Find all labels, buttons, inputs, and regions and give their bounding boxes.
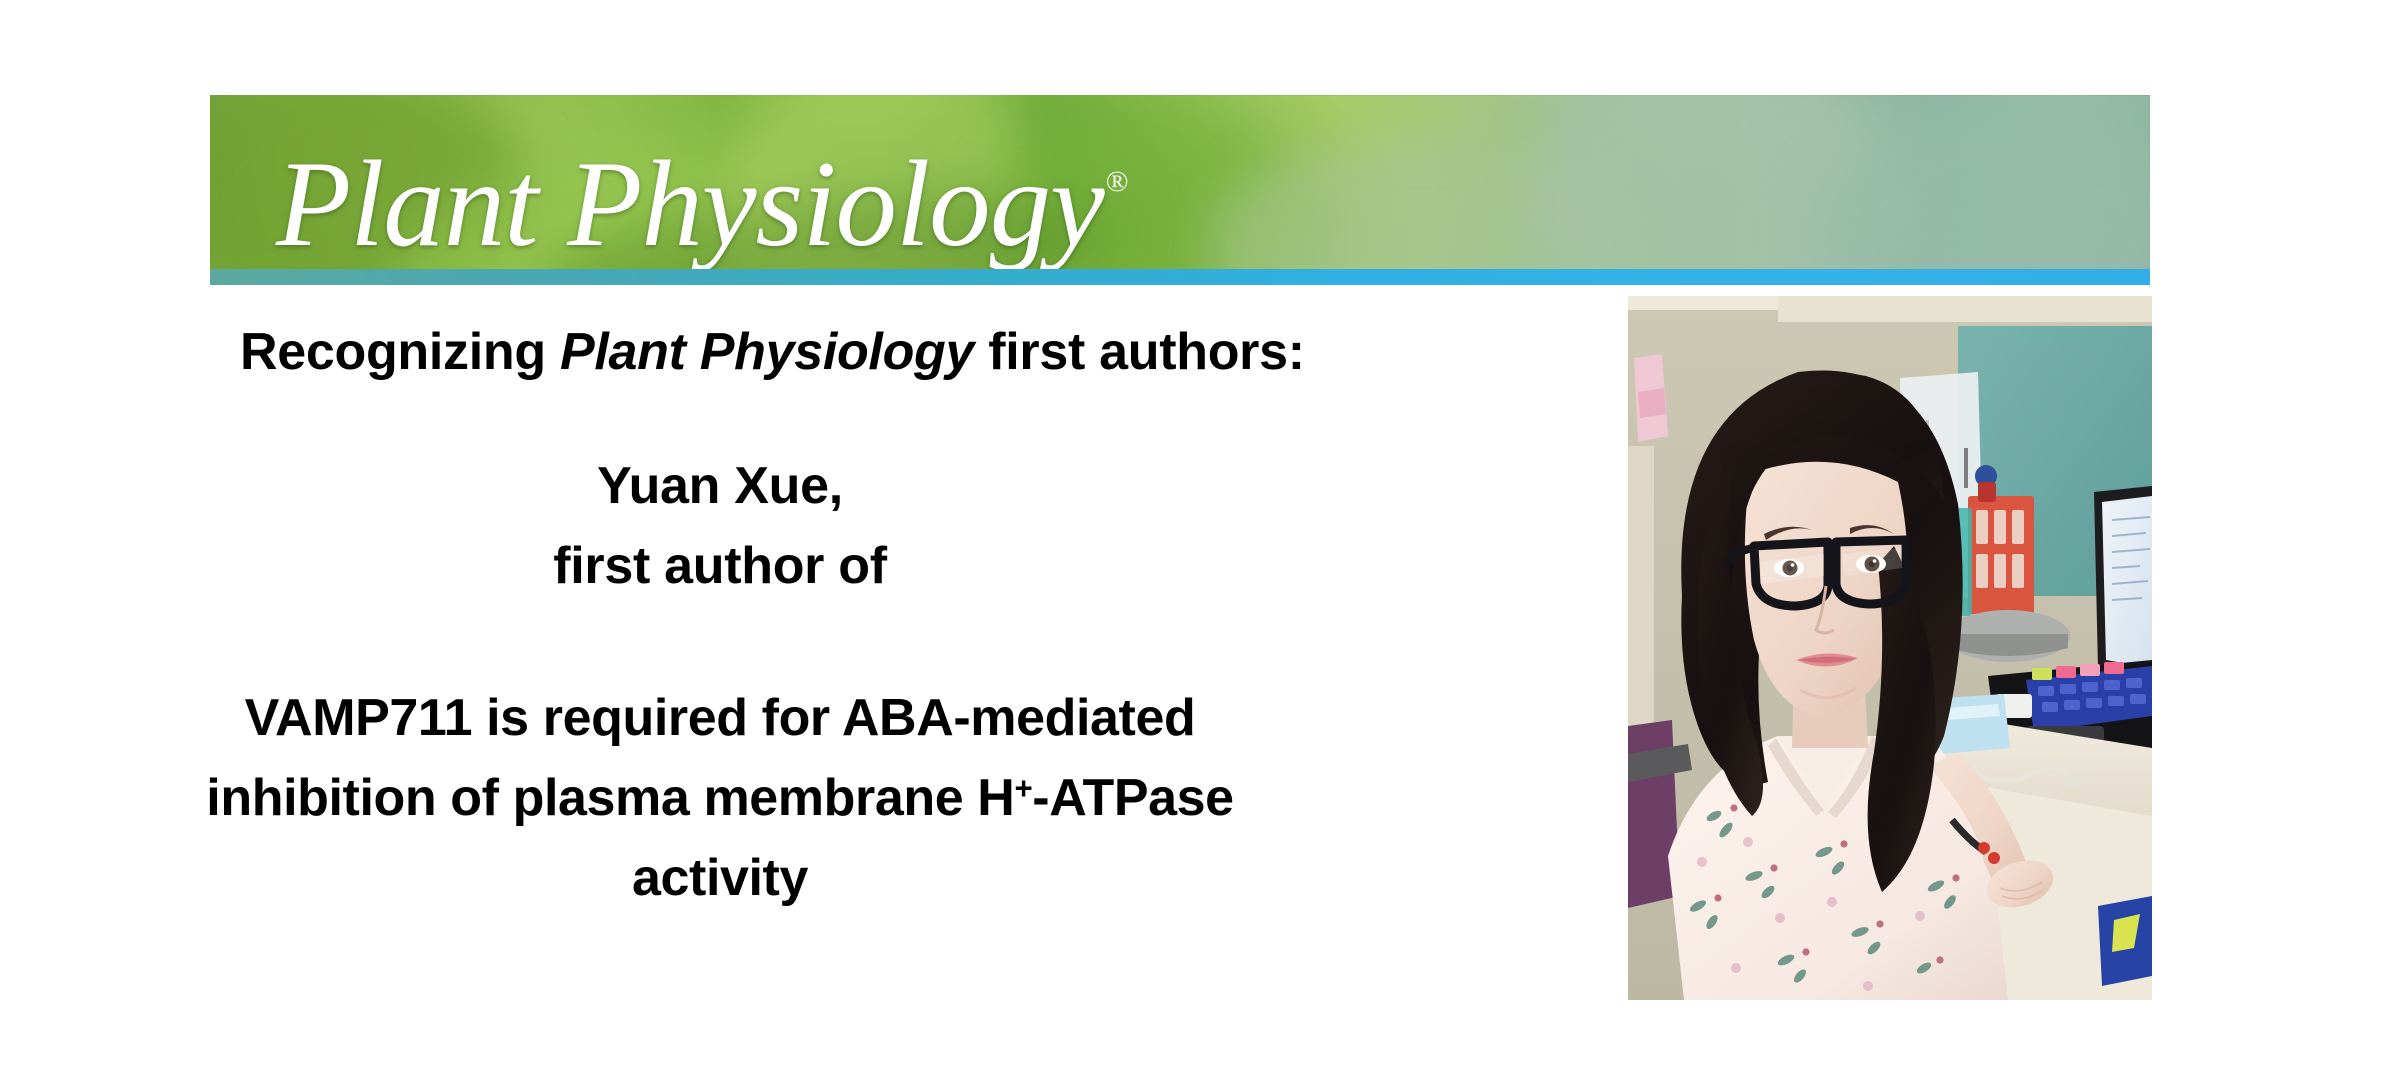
text-column: Recognizing Plant Physiology first autho…: [150, 320, 1480, 918]
intro-suffix: first authors:: [974, 323, 1305, 381]
author-role: first author of: [150, 526, 1290, 606]
article-title-line-2-part-b: -ATPase: [1032, 769, 1233, 827]
journal-banner: Plant Physiology®: [210, 95, 2150, 285]
intro-heading: Recognizing Plant Physiology first autho…: [240, 320, 1480, 384]
intro-prefix: Recognizing: [240, 323, 560, 381]
registered-trademark-icon: ®: [1106, 165, 1128, 198]
author-photo-image: [1628, 296, 2152, 1000]
proton-superscript: +: [1014, 771, 1032, 806]
article-title: VAMP711 is required for ABA-mediated inh…: [150, 678, 1480, 918]
article-title-line-2-part-a: inhibition of plasma membrane H: [206, 769, 1014, 827]
banner-accent-strip: [210, 269, 2150, 285]
article-title-line-3: activity: [150, 838, 1290, 918]
author-name: Yuan Xue,: [150, 446, 1290, 526]
intro-journal-name: Plant Physiology: [560, 323, 974, 381]
article-title-line-2: inhibition of plasma membrane H+-ATPase: [150, 758, 1290, 838]
journal-logo: Plant Physiology®: [276, 107, 1128, 279]
article-title-line-1: VAMP711 is required for ABA-mediated: [150, 678, 1290, 758]
journal-logo-text: Plant Physiology: [276, 135, 1104, 272]
author-photo: [1628, 296, 2152, 1000]
author-block: Yuan Xue, first author of: [150, 446, 1480, 606]
slide-canvas: Plant Physiology® Recognizing Plant Phys…: [0, 0, 2400, 1088]
